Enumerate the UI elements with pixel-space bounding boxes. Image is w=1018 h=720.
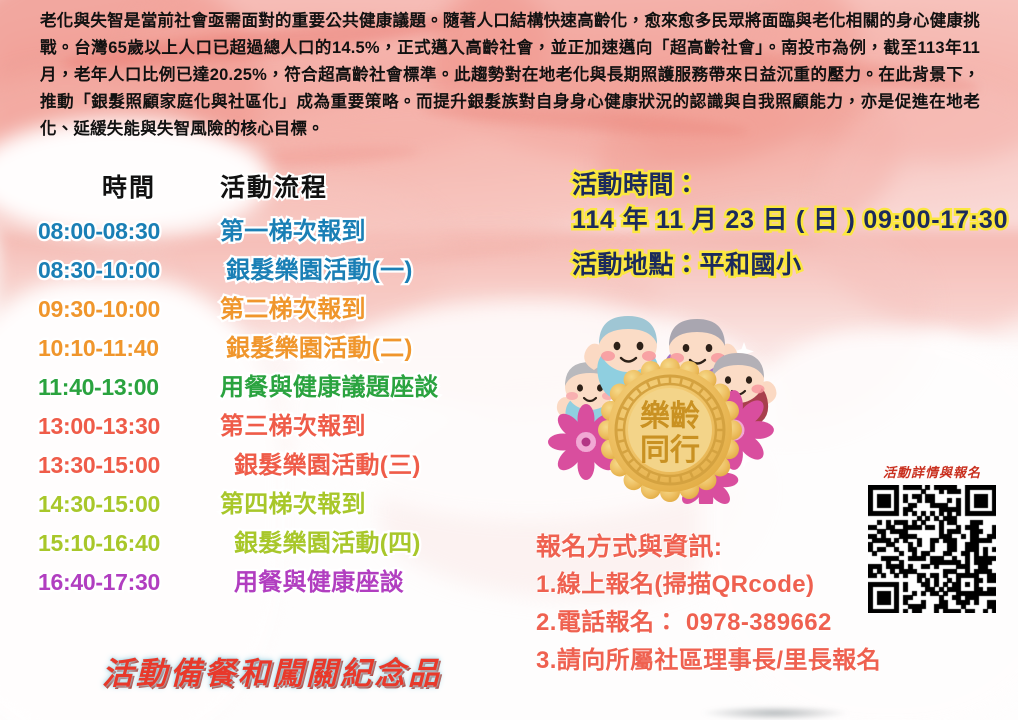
- schedule-row-time: 11:40-13:00: [38, 374, 220, 401]
- schedule-row-activity: 用餐與健康座談: [220, 562, 518, 597]
- souvenir-banner: 活動備餐和闖關紀念品: [72, 648, 472, 693]
- schedule-row: 14:30-15:00第四梯次報到: [38, 484, 518, 523]
- schedule-row-activity: 銀髮樂園活動(二): [220, 328, 518, 363]
- schedule-row: 13:30-15:00銀髮樂園活動(三): [38, 445, 518, 484]
- schedule-row: 11:40-13:00用餐與健康議題座談: [38, 367, 518, 406]
- intro-text: 老化與失智是當前社會亟需面對的重要公共健康議題。隨著人口結構快速高齡化，愈來愈多…: [40, 8, 980, 143]
- schedule-header-row: 時間 活動流程: [38, 168, 518, 204]
- schedule-row-activity: 第一梯次報到: [220, 211, 518, 246]
- qr-code-block[interactable]: 活動詳情與報名: [862, 462, 1002, 613]
- schedule-row-time: 13:00-13:30: [38, 413, 220, 440]
- event-date-value: 114 年 11 月 23 日 ( 日 ) 09:00-17:30: [572, 202, 1012, 238]
- intro-paragraph: 老化與失智是當前社會亟需面對的重要公共健康議題。隨著人口結構快速高齡化，愈來愈多…: [40, 8, 980, 143]
- schedule-row-time: 15:10-16:40: [38, 530, 220, 557]
- schedule-rows: 08:00-08:30第一梯次報到08:30-10:00銀髮樂園活動(一)09:…: [38, 211, 518, 601]
- schedule-row-time: 09:30-10:00: [38, 296, 220, 323]
- medallion-text-line2: 同行: [640, 433, 700, 468]
- schedule-row-time: 10:10-11:40: [38, 335, 220, 362]
- schedule-row-activity: 第二梯次報到: [220, 289, 518, 324]
- schedule-row-activity: 第四梯次報到: [220, 484, 518, 519]
- qr-code-label: 活動詳情與報名: [862, 462, 1002, 481]
- event-info-block: 活動時間： 114 年 11 月 23 日 ( 日 ) 09:00-17:30 …: [572, 168, 1012, 284]
- qr-code-image[interactable]: [868, 485, 996, 613]
- registration-item: 3.請向所屬社區理事長/里長報名: [536, 642, 966, 680]
- schedule-row: 13:00-13:30第三梯次報到: [38, 406, 518, 445]
- medallion-text-line1: 樂齡: [639, 399, 700, 434]
- poster-canvas: 老化與失智是當前社會亟需面對的重要公共健康議題。隨著人口結構快速高齡化，愈來愈多…: [0, 0, 1018, 720]
- schedule-row-time: 08:30-10:00: [38, 257, 220, 284]
- schedule-row-time: 13:30-15:00: [38, 452, 220, 479]
- event-time-label: 活動時間：: [572, 168, 1012, 202]
- schedule-row-activity: 銀髮樂園活動(三): [220, 445, 518, 480]
- schedule-row-activity: 銀髮樂園活動(一): [220, 250, 518, 285]
- schedule-row: 15:10-16:40銀髮樂園活動(四): [38, 523, 518, 562]
- schedule-row-activity: 用餐與健康議題座談: [220, 367, 518, 402]
- schedule-row-time: 14:30-15:00: [38, 491, 220, 518]
- schedule-table: 時間 活動流程 08:00-08:30第一梯次報到08:30-10:00銀髮樂園…: [38, 168, 518, 601]
- schedule-row: 08:30-10:00銀髮樂園活動(一): [38, 250, 518, 289]
- schedule-row: 09:30-10:00第二梯次報到: [38, 289, 518, 328]
- bottom-shadow-smudge: [700, 706, 850, 720]
- seniors-medallion-illustration: 樂齡 同行: [548, 312, 798, 504]
- schedule-header-activity: 活動流程: [220, 168, 518, 204]
- event-place-value: 活動地點：平和國小: [572, 246, 1012, 284]
- schedule-row-time: 16:40-17:30: [38, 569, 220, 596]
- schedule-header-time: 時間: [38, 168, 220, 204]
- schedule-row: 10:10-11:40銀髮樂園活動(二): [38, 328, 518, 367]
- schedule-row-time: 08:00-08:30: [38, 218, 220, 245]
- schedule-row-activity: 銀髮樂園活動(四): [220, 523, 518, 558]
- schedule-row-activity: 第三梯次報到: [220, 406, 518, 441]
- schedule-row: 16:40-17:30用餐與健康座談: [38, 562, 518, 601]
- schedule-row: 08:00-08:30第一梯次報到: [38, 211, 518, 250]
